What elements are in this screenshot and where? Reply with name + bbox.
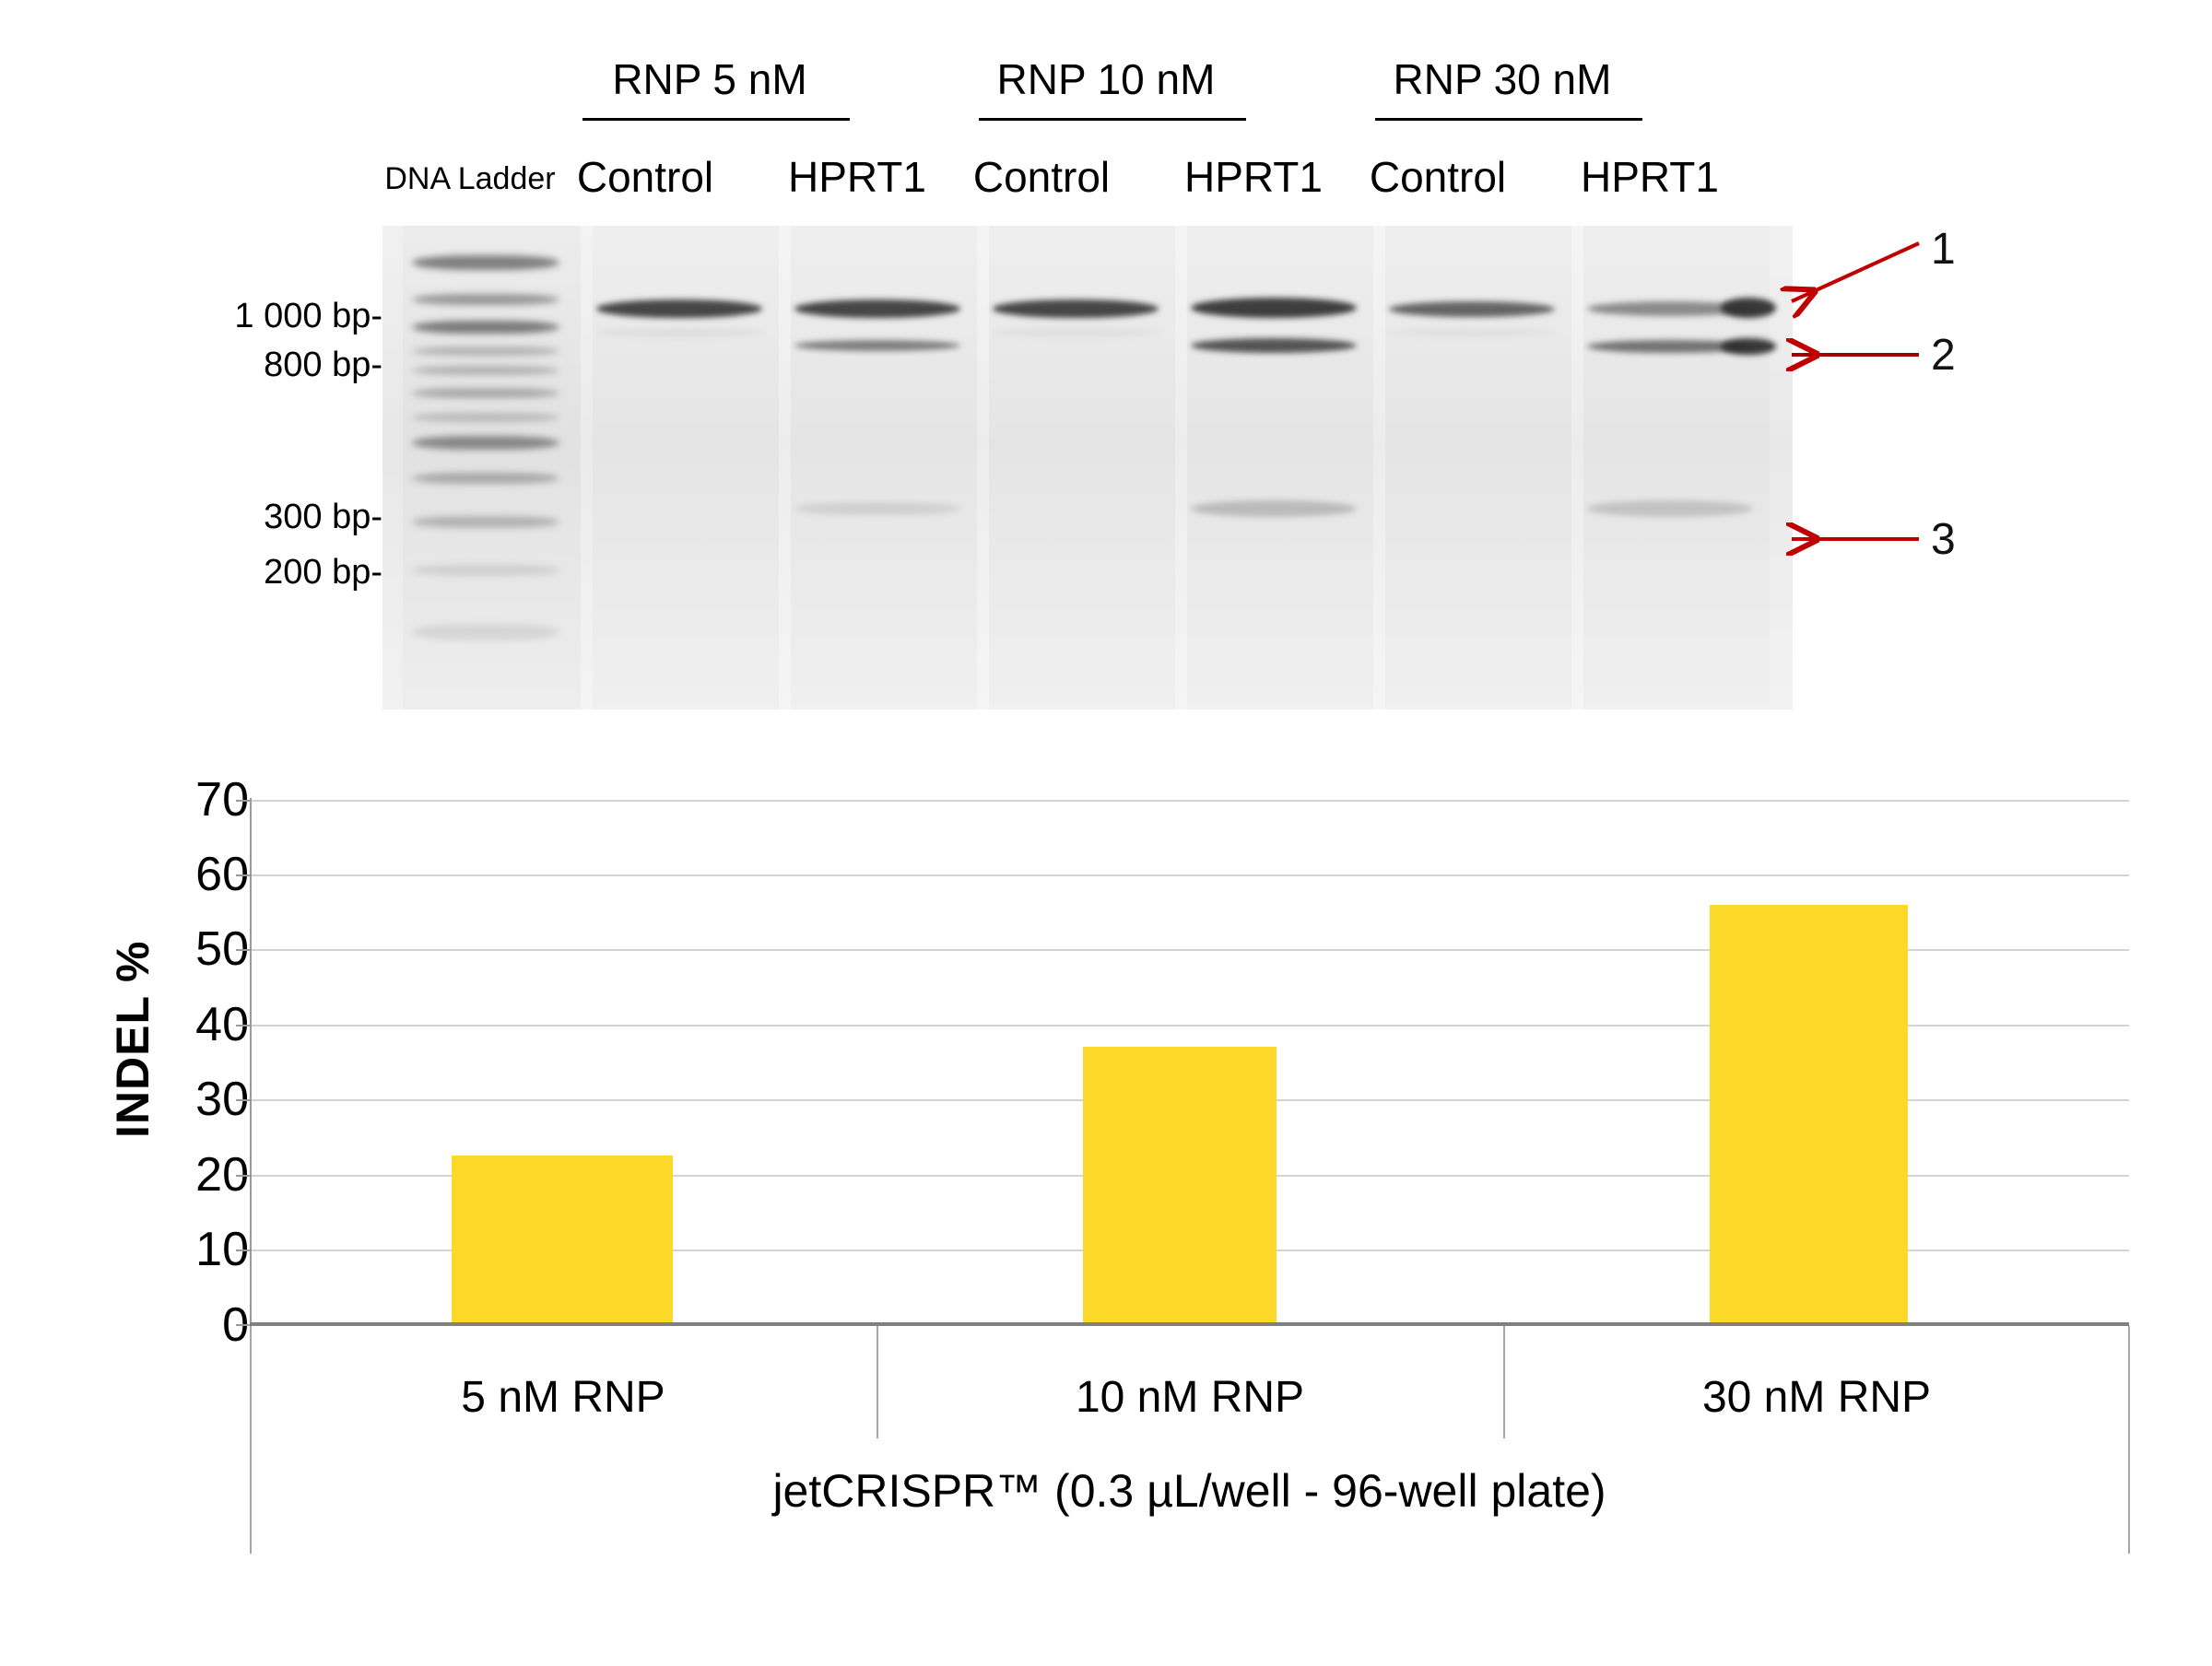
chart-frame-right [2128, 1438, 2130, 1554]
chart-y-tick-70: 70 [120, 774, 249, 826]
chart-category-label-3: 30 nM RNP [1559, 1373, 2075, 1423]
gel-band-main [596, 299, 762, 318]
chart-category-separator-1 [877, 1326, 878, 1438]
ladder-band [412, 436, 559, 450]
gel-lane-label-1: Control [553, 153, 737, 201]
chart-tickmark-30 [236, 1099, 251, 1101]
gel-bp-marker-200: 200 bp- [124, 553, 382, 592]
gel-band-cleavage-upper [1191, 338, 1357, 353]
gel-lane-label-4: HPRT1 [1161, 153, 1346, 201]
gel-band-cleavage-upper [794, 340, 960, 351]
gel-band-main [794, 299, 960, 318]
chart-tickmark-60 [236, 874, 251, 876]
gel-band-faint [596, 329, 762, 336]
gel-band-main [1389, 301, 1555, 317]
chart-category-separator-2 [1503, 1326, 1505, 1438]
gel-lane-label-5: Control [1346, 153, 1530, 201]
ladder-band [412, 413, 559, 422]
chart-tickmark-40 [236, 1025, 251, 1027]
chart-bar-5nm[interactable] [452, 1156, 673, 1324]
chart-tickmark-70 [236, 800, 251, 802]
gel-band-faint [1389, 329, 1555, 336]
chart-x-axis-line [250, 1322, 2129, 1326]
gel-electrophoresis-panel: RNP 5 nM RNP 10 nM RNP 30 nM DNA Ladder … [0, 0, 2212, 737]
arrow-1-line [1792, 243, 1919, 301]
chart-y-tick-40: 40 [120, 999, 249, 1050]
chart-category-label-1: 5 nM RNP [305, 1373, 821, 1423]
chart-tickmark-0 [236, 1324, 251, 1326]
chart-y-tick-10: 10 [120, 1224, 249, 1275]
gel-ladder-caption: DNA Ladder [369, 160, 571, 197]
chart-x-axis-title: jetCRISPR™ (0.3 µL/well - 96-well plate) [250, 1465, 2129, 1517]
gel-band-cleavage-lower [1191, 500, 1357, 517]
chart-y-tick-30: 30 [120, 1074, 249, 1125]
chart-frame-left [250, 1438, 252, 1554]
ladder-band [412, 321, 559, 334]
gel-group-rule-3 [1375, 118, 1642, 121]
gel-image [382, 226, 1793, 710]
gel-band-faint [993, 329, 1159, 336]
gel-band-cleavage-lower [1587, 500, 1753, 517]
gel-bp-marker-800: 800 bp- [124, 346, 382, 384]
gel-group-rule-2 [979, 118, 1246, 121]
gel-annotation-number-2: 2 [1931, 332, 1956, 380]
gel-lane-label-6: HPRT1 [1558, 153, 1742, 201]
ladder-band [412, 565, 559, 576]
chart-gridline-70 [251, 800, 2129, 802]
chart-category-label-2: 10 nM RNP [932, 1373, 1448, 1423]
chart-bar-30nm[interactable] [1710, 905, 1908, 1324]
chart-y-tick-0: 0 [120, 1299, 249, 1351]
gel-band-main [993, 299, 1159, 318]
gel-band-main [1191, 298, 1357, 318]
gel-lane-label-3: Control [949, 153, 1134, 201]
ladder-band [412, 346, 559, 356]
gel-bp-marker-1000: 1 000 bp- [124, 297, 382, 335]
ladder-band [412, 255, 559, 270]
gel-annotation-number-1: 1 [1931, 226, 1956, 274]
gel-band-cleavage-lower [794, 502, 960, 515]
ladder-band [412, 473, 559, 484]
ladder-band [412, 624, 559, 640]
chart-y-axis-line [250, 798, 252, 1326]
chart-y-tick-50: 50 [120, 923, 249, 975]
chart-bar-10nm[interactable] [1083, 1047, 1277, 1324]
gel-group-label-2: RNP 10 nM [949, 55, 1263, 103]
indel-bar-chart-panel: INDEL % 70 60 50 40 30 20 10 0 [0, 737, 2212, 1666]
ladder-band [412, 366, 559, 375]
ladder-band [412, 516, 559, 528]
chart-category-separator-left [250, 1326, 252, 1438]
ladder-band [412, 388, 559, 398]
figure-root: RNP 5 nM RNP 10 nM RNP 30 nM DNA Ladder … [0, 0, 2212, 1666]
chart-tickmark-20 [236, 1175, 251, 1177]
gel-bp-marker-300: 300 bp- [124, 498, 382, 536]
gel-group-label-3: RNP 30 nM [1346, 55, 1659, 103]
gel-group-rule-1 [582, 118, 850, 121]
ladder-band [412, 294, 559, 305]
chart-tickmark-50 [236, 949, 251, 951]
chart-gridline-60 [251, 874, 2129, 876]
gel-annotation-number-3: 3 [1931, 516, 1956, 564]
gel-group-label-1: RNP 5 nM [553, 55, 866, 103]
chart-y-tick-60: 60 [120, 849, 249, 900]
gel-lane-label-2: HPRT1 [765, 153, 949, 201]
chart-tickmark-10 [236, 1249, 251, 1251]
chart-y-tick-20: 20 [120, 1149, 249, 1201]
chart-category-separator-right [2128, 1326, 2130, 1438]
